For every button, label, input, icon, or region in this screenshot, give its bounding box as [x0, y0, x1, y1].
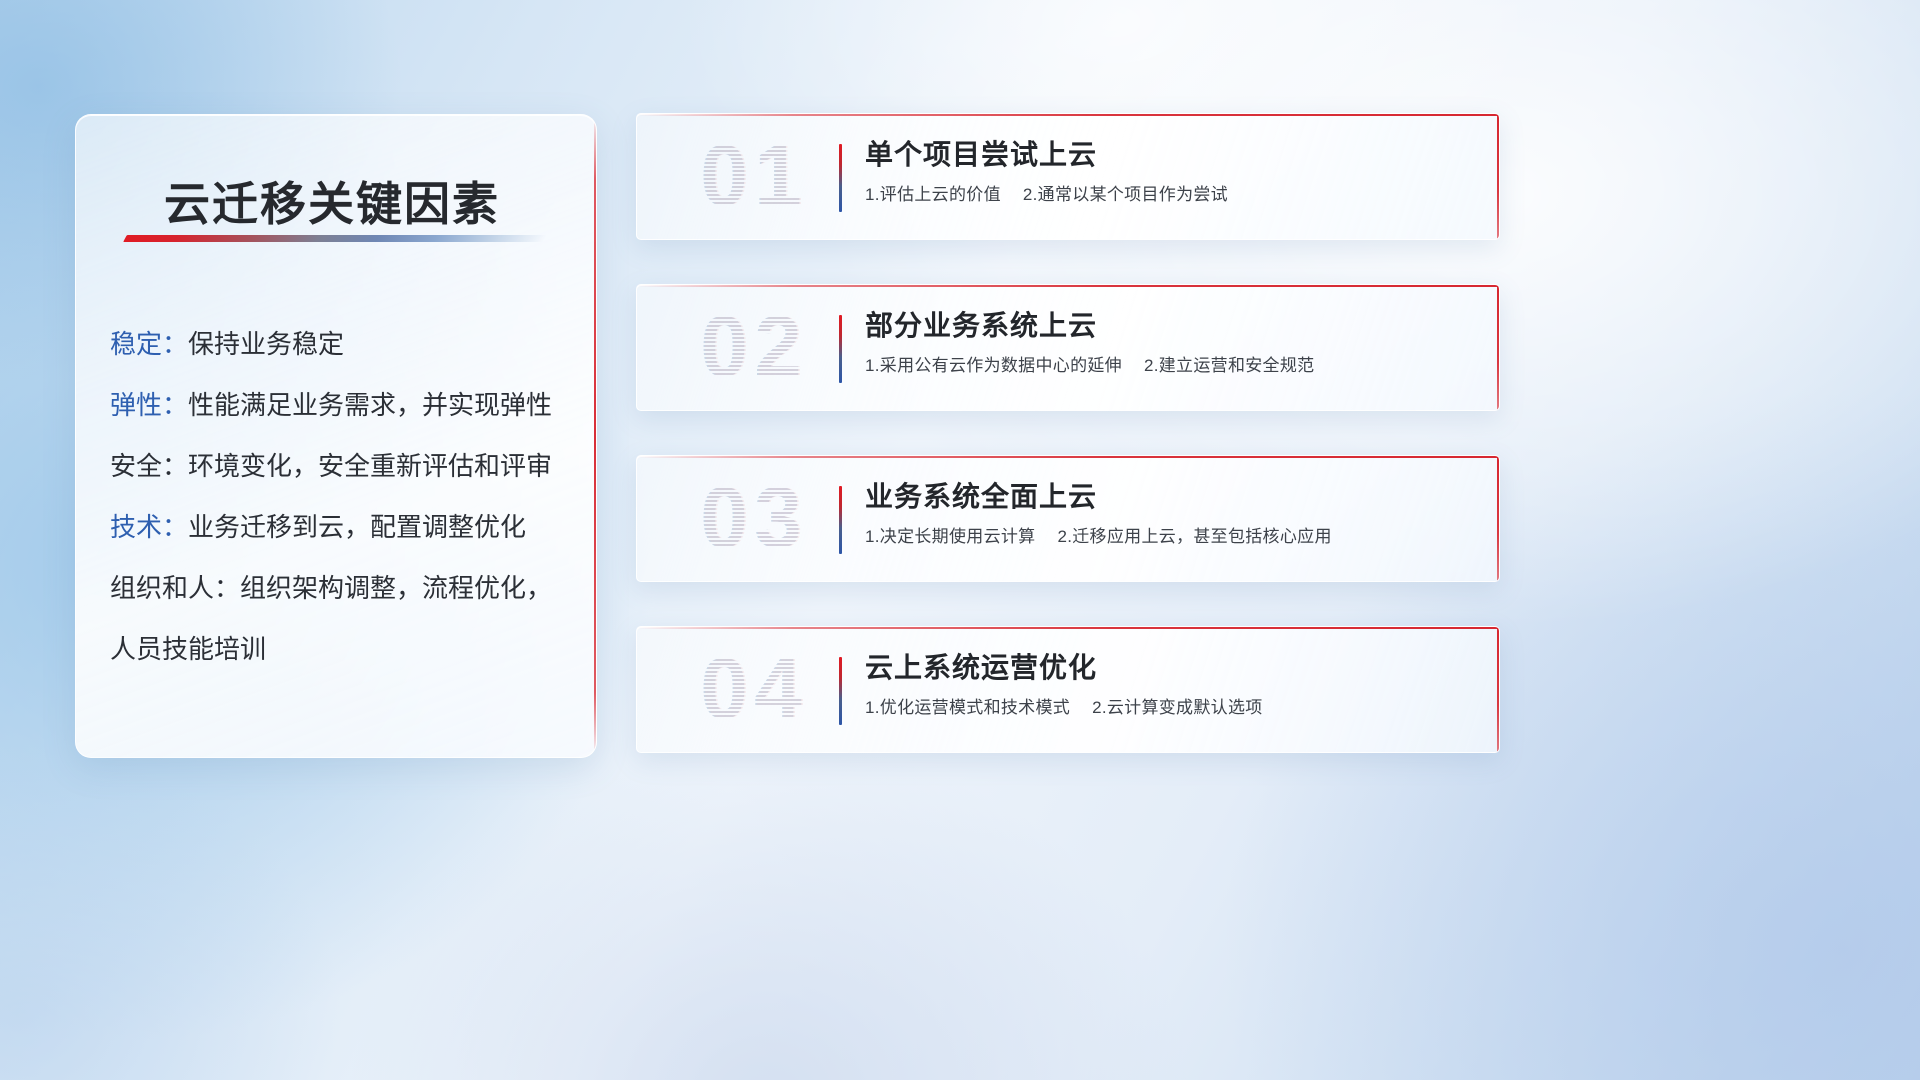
stage-card-03[interactable]: 03 业务系统全面上云 1.决定长期使用云计算2.迁移应用上云，甚至包括核心应用 — [636, 455, 1500, 582]
accent-divider — [839, 486, 842, 554]
list-item: 组织和人：组织架构调整，流程优化，人员技能培训 — [110, 558, 570, 680]
stage-number-04: 04 — [659, 626, 849, 753]
factor-text: 业务迁移到云，配置调整优化 — [188, 512, 526, 542]
factor-label: 技术： — [110, 512, 188, 542]
slide-canvas: 云迁移关键因素 稳定：保持业务稳定 弹性：性能满足业务需求，并实现弹性 安全：环… — [0, 0, 1920, 1080]
migration-stage-cards: 01 单个项目尝试上云 1.评估上云的价值2.通常以某个项目作为尝试 02 部分… — [636, 113, 1500, 797]
factor-text: 性能满足业务需求，并实现弹性 — [188, 390, 552, 420]
stage-card-content: 业务系统全面上云 1.决定长期使用云计算2.迁移应用上云，甚至包括核心应用 — [865, 478, 1475, 549]
stage-number-03: 03 — [659, 455, 849, 582]
accent-divider — [839, 144, 842, 212]
stage-desc-item-1: 1.评估上云的价值 — [865, 185, 1001, 204]
stage-desc-item-2: 2.建立运营和安全规范 — [1144, 356, 1314, 375]
factor-label: 弹性： — [110, 390, 188, 420]
stage-card-content: 部分业务系统上云 1.采用公有云作为数据中心的延伸2.建立运营和安全规范 — [865, 307, 1475, 378]
list-item: 安全：环境变化，安全重新评估和评审 — [110, 436, 570, 497]
factor-label: 稳定： — [110, 329, 188, 359]
stage-number-01: 01 — [659, 113, 849, 240]
stage-card-01[interactable]: 01 单个项目尝试上云 1.评估上云的价值2.通常以某个项目作为尝试 — [636, 113, 1500, 240]
stage-title: 云上系统运营优化 — [865, 649, 1475, 687]
stage-desc-item-1: 1.优化运营模式和技术模式 — [865, 698, 1070, 717]
list-item: 技术：业务迁移到云，配置调整优化 — [110, 497, 570, 558]
stage-card-02[interactable]: 02 部分业务系统上云 1.采用公有云作为数据中心的延伸2.建立运营和安全规范 — [636, 284, 1500, 411]
key-factors-list: 稳定：保持业务稳定 弹性：性能满足业务需求，并实现弹性 安全：环境变化，安全重新… — [110, 314, 570, 680]
factor-label: 安全： — [110, 451, 188, 481]
stage-number-02: 02 — [659, 284, 849, 411]
stage-desc-item-2: 2.通常以某个项目作为尝试 — [1023, 185, 1228, 204]
stage-title: 业务系统全面上云 — [865, 478, 1475, 516]
list-item: 稳定：保持业务稳定 — [110, 314, 570, 375]
accent-divider — [839, 657, 842, 725]
factor-text: 保持业务稳定 — [188, 329, 344, 359]
list-item: 弹性：性能满足业务需求，并实现弹性 — [110, 375, 570, 436]
title-underline-rule — [123, 235, 547, 242]
factor-text: 环境变化，安全重新评估和评审 — [188, 451, 552, 481]
stage-card-04[interactable]: 04 云上系统运营优化 1.优化运营模式和技术模式2.云计算变成默认选项 — [636, 626, 1500, 753]
key-factors-panel: 云迁移关键因素 稳定：保持业务稳定 弹性：性能满足业务需求，并实现弹性 安全：环… — [75, 114, 597, 758]
stage-desc-item-1: 1.采用公有云作为数据中心的延伸 — [865, 356, 1122, 375]
accent-divider — [839, 315, 842, 383]
stage-description: 1.决定长期使用云计算2.迁移应用上云，甚至包括核心应用 — [865, 525, 1475, 549]
stage-title: 部分业务系统上云 — [865, 307, 1475, 345]
stage-description: 1.优化运营模式和技术模式2.云计算变成默认选项 — [865, 696, 1475, 720]
stage-description: 1.评估上云的价值2.通常以某个项目作为尝试 — [865, 183, 1475, 207]
stage-title: 单个项目尝试上云 — [865, 136, 1475, 174]
page-title: 云迁移关键因素 — [164, 168, 500, 234]
factor-label: 组织和人： — [110, 573, 240, 603]
stage-desc-item-2: 2.云计算变成默认选项 — [1092, 698, 1262, 717]
stage-card-content: 云上系统运营优化 1.优化运营模式和技术模式2.云计算变成默认选项 — [865, 649, 1475, 720]
stage-desc-item-2: 2.迁移应用上云，甚至包括核心应用 — [1057, 527, 1331, 546]
stage-desc-item-1: 1.决定长期使用云计算 — [865, 527, 1035, 546]
stage-card-content: 单个项目尝试上云 1.评估上云的价值2.通常以某个项目作为尝试 — [865, 136, 1475, 207]
stage-description: 1.采用公有云作为数据中心的延伸2.建立运营和安全规范 — [865, 354, 1475, 378]
